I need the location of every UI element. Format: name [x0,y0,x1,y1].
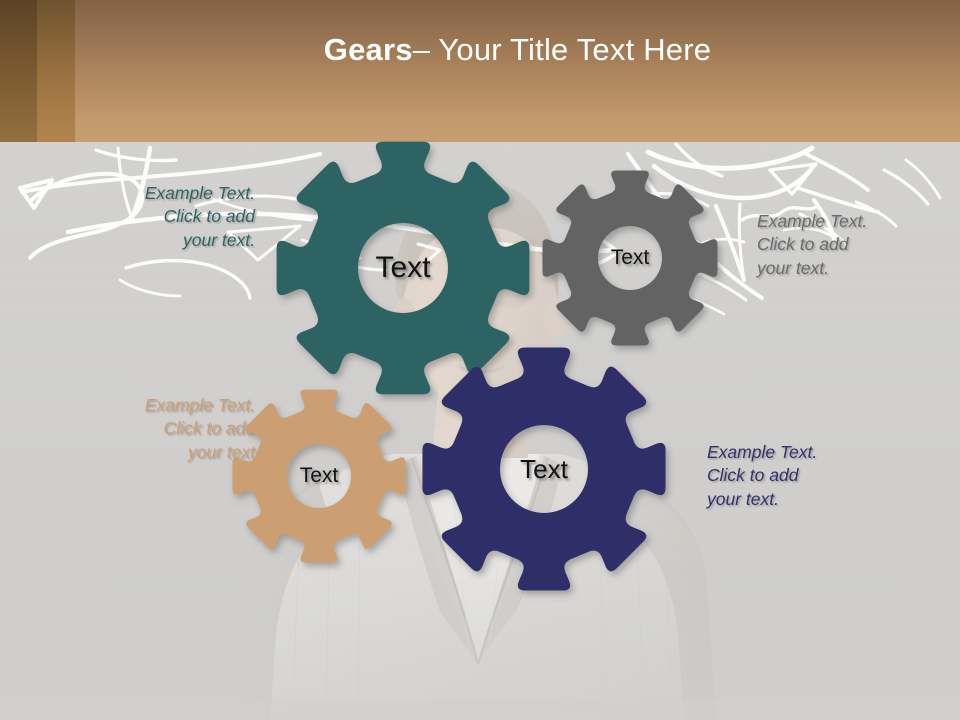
gear-navy-shape [403,328,685,610]
callout-bottom-right[interactable]: Example Text. Click to add your text. [707,441,912,511]
header-band-dark [0,0,37,142]
callout-top-right[interactable]: Example Text. Click to add your text. [757,210,957,280]
page-title: Gears – Your Title Text Here [75,0,960,142]
gear-tan[interactable]: Text [214,371,424,581]
header-band-mid [37,0,75,142]
gear-tan-shape [214,371,424,581]
gear-navy[interactable]: Text [403,328,685,610]
slide-header: Gears – Your Title Text Here [0,0,960,142]
callout-top-left[interactable]: Example Text. Click to add your text. [60,182,255,252]
slide-canvas: TextTextTextText Gears – Your Title Text… [0,0,960,720]
page-title-rest: – Your Title Text Here [413,32,712,68]
page-title-bold: Gears [324,32,413,68]
